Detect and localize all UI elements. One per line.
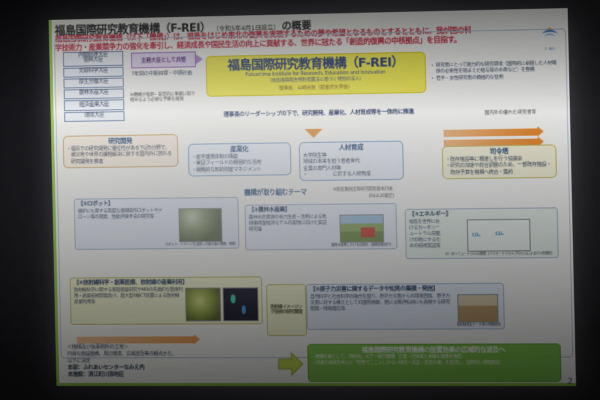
research-environment-bullets: ・ 研究者にとって魅力的な研究環境（国際的に卓越した人材確保の必要性を踏まえた給… <box>430 61 561 84</box>
theme-body-2: 福島を世界におけるカーボンニュートラル先駆けの地にするための技術実証等 カーボン… <box>409 219 555 257</box>
mid-box-list-0: 福島での研究開発に優位性がある下記5分野で、被災地や世界の課題解決に資する国内外… <box>67 145 175 165</box>
down-arrow-icon <box>304 129 322 138</box>
minister-item-1: 文部科学大臣 <box>63 66 123 77</box>
radiation-imaging-side-label: 放射線イメージング技術の研究開発 <box>266 284 307 336</box>
figure-3-1 <box>222 287 258 321</box>
frei-logo-caption: F-REI <box>537 47 564 52</box>
theme-panel-radiation: 【④放射線科学・創薬医療、放射線の産業利用】 放射線科学に関する基礎基盤研究やM… <box>70 276 263 325</box>
budget-note: ※機構が長期・安定的に事業に取り組めるよう必要な予算を確保 <box>130 92 199 104</box>
mid-item-0-0: 福島での研究開発に優位性がある下記5分野で、被災地や世界の課題解決に資する国内外… <box>67 145 175 165</box>
mid-box-research-development: 研究開発 福島での研究開発に優位性がある下記5分野で、被災地や世界の課題解決に資… <box>63 134 179 168</box>
cell-sample-photo-icon <box>185 288 221 322</box>
figure-0-0: ロボット・ドローンを活用した被災者の捜索・救助 <box>165 208 236 247</box>
figure-caption-0-0: ロボット・ドローンを活用した被災者の捜索・救助 <box>165 242 235 246</box>
theme-body-1: 農林水産資源の省力生産・活用による地域循環型経済モデルの実現に向けた実証研究等 … <box>249 214 394 248</box>
green-banner-line-1: 浜通り地域を中心に「世界でここにしかない研究・実証・実装の場」を実現し、国際的に… <box>312 360 556 366</box>
theme-panel-energy: 【③エネルギー】 福島を世界におけるカーボンニュートラル先駆けの地にするための技… <box>405 207 559 259</box>
minister-item-3: 農林水産大臣 <box>64 89 124 100</box>
figure-3-0 <box>185 288 221 322</box>
themes-note-date: （R4.8.26策定） <box>366 193 397 199</box>
mid-box-title-2: 人材育成 <box>303 143 400 152</box>
theme-panel-robot: 【①ロボット】 廃炉にも資する高度な遠隔操作ロボットやドローン等の開発、性能評価… <box>74 197 240 250</box>
robot-field-photo-icon <box>178 208 222 242</box>
theme-title-3: 【④放射線科学・創薬医療、放射線の産業利用】 <box>74 279 259 287</box>
purple-arrow-icon <box>196 54 203 64</box>
theme-panel-agriculture: 【②農林水産業】 農林水産資源の省力生産・活用による地域循環型経済モデルの実現に… <box>244 203 397 251</box>
theme-body-4: 自然科学と社会科学の融合を図り、原子力災害からの環境回復、原子力災害に対する備え… <box>310 294 501 327</box>
right-bullet-1: ・ 若手・女性研究者の積極的な登用 <box>430 74 561 83</box>
gradient-arrow-3 <box>77 336 194 343</box>
figure-1-0: 農林水産業における自動化（農機自動走行） <box>331 214 394 247</box>
projected-slide: 福島国際研究教育機構（F-REI） （令和5年4月1日設立） の概要 福島国際研… <box>49 8 576 386</box>
mid-box-list-2: 大学院生等 地域の未来を担う若者世代 企業の専門人材等 に対する人材育成 <box>303 152 400 179</box>
theme-title-2: 【③エネルギー】 <box>409 210 554 218</box>
mid-box-human-resources: 人材育成 大学院生等 地域の未来を担う若者世代 企業の専門人材等 に対する人材育… <box>299 141 404 182</box>
figure-caption-4-0: 放射線測定データ等の情報発信 <box>457 323 501 327</box>
gradient-arrow-1 <box>443 128 537 137</box>
theme-title-1: 【②農林水産業】 <box>248 206 392 214</box>
mid-item-3-1: 研究の加速や総合調整のため、一部既存施設・既存予算を機構へ統合・集約 <box>446 162 553 176</box>
mid-item-1-2: 戦略的な知的財産マネジメント <box>192 166 287 174</box>
mid-box-list-3: 既存施設等に橋渡しを行う協議会 研究の加速や総合調整のため、一部既存施設・既存予… <box>446 155 553 176</box>
radiation-imaging-scan-icon <box>222 287 258 321</box>
theme-title-4: 【⑤原子力災害に関するデータや知見の集積・発信】 <box>310 286 500 294</box>
theme-text-4: 自然科学と社会科学の融合を図り、原子力災害からの環境回復、原子力災害に対する備え… <box>310 294 455 327</box>
minister-item-0: 内閣総理大臣 復興大臣 <box>63 51 124 67</box>
location-main-facility: 本施設：浪江町川添地区 <box>68 372 270 380</box>
location-head-office: 本部：ふれあいセンターなみえ内 <box>68 365 270 373</box>
minister-item-5: 環境大臣 <box>64 111 124 122</box>
theme-body-3: 放射線科学に関する基礎基盤研究やMRIの先端的な医療利用・創薬技術開発及び、超大… <box>74 287 259 322</box>
figure-4-0: 放射線測定データ等の情報発信 <box>456 294 501 327</box>
right-bullet-text-1: 若手・女性研究者の積極的な登用 <box>436 76 503 83</box>
theme-text-0: 廃炉にも資する高度な遠隔操作ロボットやドローン等の開発、性能評価手法の研究等 <box>78 209 164 248</box>
frei-identity-box: 福島国際研究教育機構（F-REI） Fukushima Institute fo… <box>206 52 427 97</box>
theme-figures-3 <box>185 287 259 321</box>
slide-frame-bottom-edge <box>56 383 576 386</box>
green-arrow-icon <box>277 352 303 376</box>
slide-surface: 福島国際研究教育機構（F-REI） （令和5年4月1日設立） の概要 福島国際研… <box>49 8 576 386</box>
mid-box-industrialization: 産業化 産学連携体制の構築 実証フィールドの積極的な活用 戦略的な知的財産マネジ… <box>188 142 292 176</box>
page-number: 2 <box>567 377 572 386</box>
theme-figures-0: ロボット・ドローンを活用した被災者の捜索・救助 <box>165 208 236 247</box>
theme-panel-nuclear-data: 【⑤原子力災害に関するデータや知見の集積・発信】 自然科学と社会科学の融合を図り… <box>306 283 505 330</box>
mid-box-list-1: 産学連携体制の構築 実証フィールドの積極的な活用 戦略的な知的財産マネジメント <box>192 153 287 173</box>
mid-item-2-3: に対する人材育成 <box>303 171 400 179</box>
mid-box-title-1: 産業化 <box>192 145 287 154</box>
mid-box-command-center: 司令塔 既存施設等に橋渡しを行う協議会 研究の加速や総合調整のため、一部既存施設… <box>442 144 557 179</box>
theme-text-1: 農林水産資源の省力生産・活用による地域循環型経済モデルの実現に向けた実証研究等 <box>249 215 330 248</box>
foreign-researchers-note: 国内外の優れた研究者等 <box>480 110 542 117</box>
theme-figures-4: 放射線測定データ等の情報発信 <box>456 294 501 327</box>
theme-text-3: 放射線科学に関する基礎基盤研究やMRIの先端的な医療利用・創薬技術開発及び、超大… <box>74 288 184 322</box>
figure-caption-2-0: カーボンニュートラルの実現（バイオ・ケミカルプロセスによるCO₂資源化） <box>445 252 555 257</box>
location-block: ＜機構及び仮事務所の立地＞ 円滑な施設整備、周辺環境、広域波及等の観点から、 以… <box>67 344 270 380</box>
green-banner: 福島国際研究教育機構の設置効果の広域的な波及へ 機構を核として、市町村、大学・研… <box>307 343 561 382</box>
theme-body-0: 廃炉にも資する高度な遠隔操作ロボットやドローン等の開発、性能評価手法の研究等 ロ… <box>78 208 236 247</box>
right-bullet-text-0: 研究者にとって魅力的な研究環境（国際的に卓越した人材確保の必要性を踏まえた給与等… <box>436 61 561 76</box>
theme-text-2: 福島を世界におけるカーボンニュートラル先駆けの地にするための技術実証等 <box>409 220 443 257</box>
minister-item-4: 経済産業大臣 <box>64 100 124 111</box>
meeting-room-photo-icon <box>458 294 499 322</box>
figure-2-0: カーボンニュートラルの実現（バイオ・ケミカルプロセスによるCO₂資源化） <box>444 219 554 257</box>
bullet-dot-0: ・ <box>430 64 435 76</box>
figure-caption-1-0: 農林水産業における自動化（農機自動走行） <box>331 243 393 247</box>
screenshot-root: 福島国際研究教育機構（F-REI） （令和5年4月1日設立） の概要 福島国際研… <box>0 0 600 400</box>
themes-heading: 機構が取り組むテーマ <box>244 186 307 197</box>
theme-title-0: 【①ロボット】 <box>78 200 235 208</box>
frei-name-jp: 福島国際研究教育機構（F-REI） <box>211 55 421 72</box>
joint-jurisdiction-callout: 主務大臣として共管 <box>131 51 196 68</box>
mid-term-plan-label: 7年間の中期目標・中期計画 <box>131 70 194 78</box>
bullet-dot-1: ・ <box>430 77 435 83</box>
minister-label-0b: 復興大臣 <box>64 58 122 65</box>
minister-item-2: 厚生労働大臣 <box>63 78 123 89</box>
farm-tractor-photo-icon <box>339 214 384 243</box>
themes-note: ※新産業創出等研究開発基本計画 <box>333 186 393 193</box>
mid-box-title-3: 司令塔 <box>446 147 552 156</box>
minister-list: 内閣総理大臣 復興大臣 文部科学大臣 厚生労働大臣 農林水産大臣 経済産業大臣 … <box>63 51 125 122</box>
theme-figures-2: カーボンニュートラルの実現（バイオ・ケミカルプロセスによるCO₂資源化） <box>444 219 554 257</box>
frei-logo-icon: F-REI <box>536 22 563 45</box>
carbon-cycle-diagram-icon <box>467 219 531 252</box>
right-bullet-0: ・ 研究者にとって魅力的な研究環境（国際的に卓越した人材確保の必要性を踏まえた給… <box>430 61 561 76</box>
theme-figures-1: 農林水産業における自動化（農機自動走行） <box>331 214 394 247</box>
